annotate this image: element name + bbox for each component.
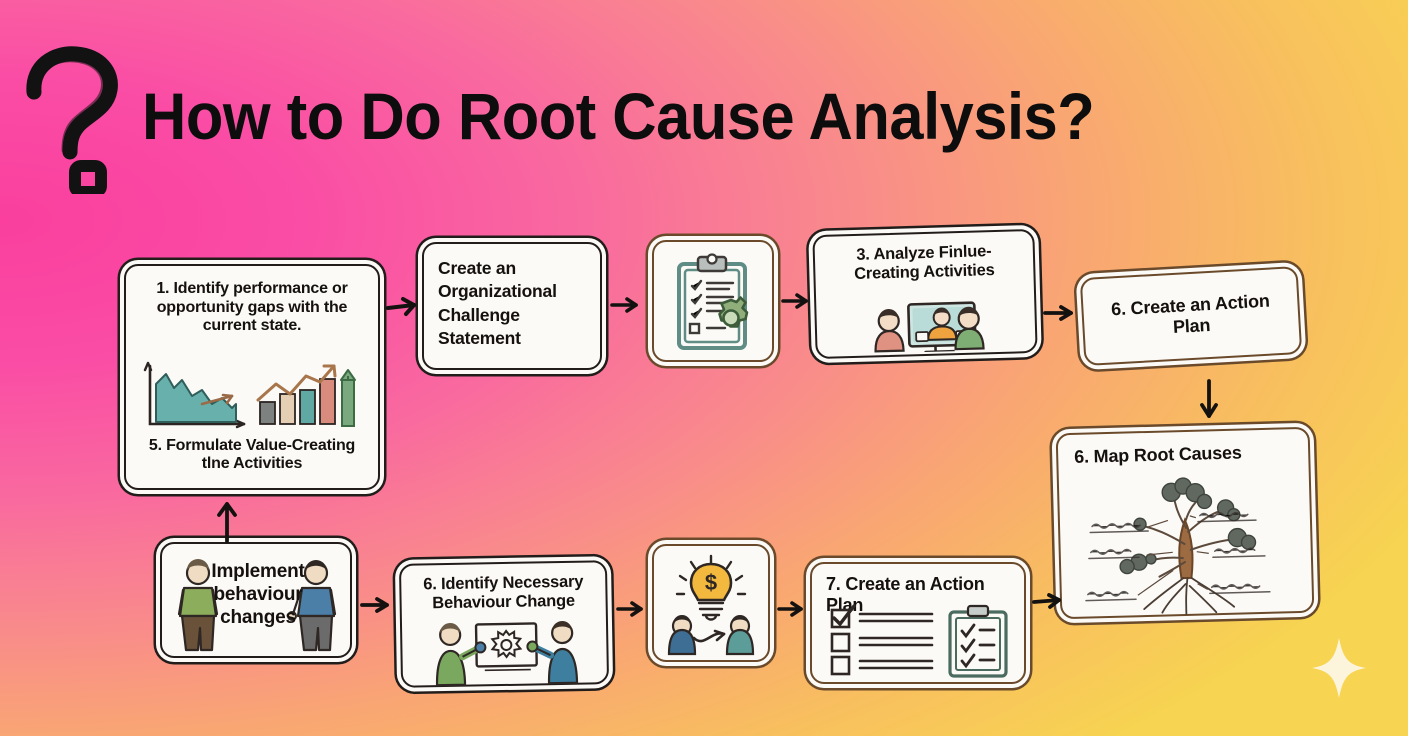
team-video-meeting-icon <box>860 286 998 354</box>
root-cause-tree-icon <box>1067 463 1309 619</box>
step-card-text-bottom: 5. Formulate Value-Creating tlne Activit… <box>126 437 378 474</box>
step-card-text: 6. Create an Action Plan <box>1082 268 1300 364</box>
step-card-org-challenge[interactable]: Create an Organizational Challenge State… <box>422 242 602 370</box>
lightbulb-dollar-handoff-icon: $ <box>662 552 760 656</box>
clipboard-checklist-gear-icon <box>665 250 765 356</box>
arrow-ident-to-bulb <box>614 592 654 626</box>
line-and-bar-chart-icon <box>140 360 368 432</box>
step-card-implement-behaviour[interactable]: Implement behaviour changes <box>160 542 352 658</box>
arrow-impl-to-ident <box>358 588 400 622</box>
step-card-text: Implement behaviour changes <box>206 560 310 630</box>
people-whiteboard-gear-icon <box>424 617 589 688</box>
step-card-action-plan-7[interactable]: 7. Create an Action Plan <box>810 562 1026 684</box>
step-card-map-root-causes[interactable]: 6. Map Root Causes <box>1056 427 1315 620</box>
step-card-analyze-activities[interactable]: 3. Analyze Finlue-Creating Activities <box>812 229 1037 359</box>
step-card-identify-gaps[interactable]: 1. Identify performance or opportunity g… <box>124 264 380 490</box>
step-card-value-idea[interactable]: $ <box>652 544 770 662</box>
step-card-text: 6. Map Root Causes <box>1058 429 1309 469</box>
step-card-identify-behaviour-change[interactable]: 6. Identify Necessary Behaviour Change <box>399 560 609 688</box>
arrow-gaps-to-org <box>384 290 424 324</box>
step-card-text-top: 1. Identify performance or opportunity g… <box>126 266 378 336</box>
step-card-text: Create an Organizational Challenge State… <box>424 244 600 350</box>
arrow-analyze-to-plan6 <box>1042 296 1084 330</box>
arrow-bulb-to-plan7 <box>776 592 814 626</box>
svg-text:$: $ <box>705 570 717 595</box>
arrow-impl-to-gaps <box>210 496 244 544</box>
step-card-text: 3. Analyze Finlue-Creating Activities <box>814 231 1033 286</box>
sparkle-icon <box>1310 636 1368 700</box>
checklist-clipboard-icon <box>828 604 1018 678</box>
arrow-org-to-clipboard <box>608 288 648 322</box>
step-card-text: 6. Identify Necessary Behaviour Change <box>401 562 606 614</box>
arrow-clipboard-to-analyze <box>780 284 818 318</box>
arrow-plan6-to-roots <box>1192 378 1226 426</box>
arrow-plan7-to-roots <box>1030 584 1072 618</box>
step-card-clipboard[interactable] <box>652 240 774 362</box>
question-mark-icon <box>18 44 122 194</box>
step-card-action-plan-6[interactable]: 6. Create an Action Plan <box>1080 266 1303 366</box>
page-title: How to Do Root Cause Analysis? <box>142 78 1094 154</box>
